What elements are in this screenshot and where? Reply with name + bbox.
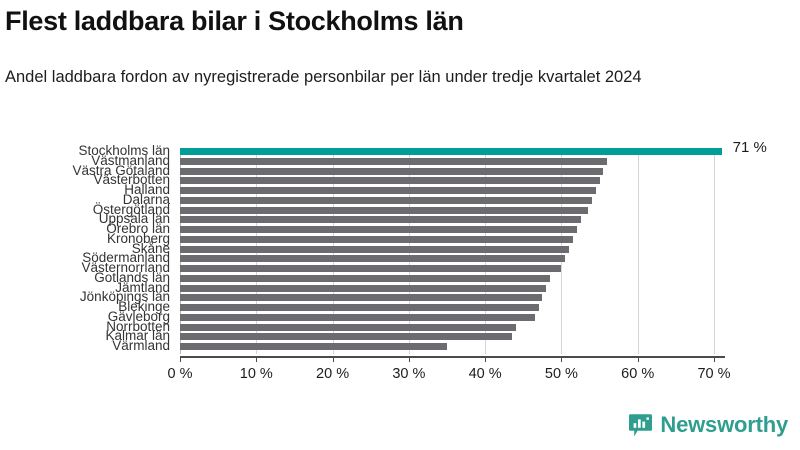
x-axis-tick-label: 30 % [392, 366, 425, 382]
logo-text: Newsworthy [660, 412, 788, 438]
bar [180, 246, 569, 253]
bar [180, 197, 592, 204]
bar-row [180, 324, 714, 331]
bar [180, 294, 542, 301]
bar-row [180, 275, 714, 282]
y-axis-labels: Stockholms länVästmanlandVästra Götaland… [0, 0, 176, 450]
bar-chart-bubble-icon [628, 413, 653, 438]
bar [180, 333, 512, 340]
x-axis-tick-label: 40 % [469, 366, 502, 382]
bar-row [180, 285, 714, 292]
x-axis-tick-label: 50 % [545, 366, 578, 382]
bar-row [180, 236, 714, 243]
bar [180, 304, 539, 311]
bar-row [180, 265, 714, 272]
bar [180, 265, 561, 272]
bar [180, 236, 573, 243]
chart-card: Flest laddbara bilar i Stockholms län An… [0, 0, 800, 450]
bar-row [180, 304, 714, 311]
bar-row [180, 187, 714, 194]
bar-row [180, 294, 714, 301]
x-axis-tick-label: 60 % [621, 366, 654, 382]
bar-row [180, 148, 714, 155]
x-axis-tick [333, 356, 334, 362]
bar-row [180, 226, 714, 233]
x-axis-tick-label: 20 % [316, 366, 349, 382]
bar-row [180, 177, 714, 184]
bar-row [180, 197, 714, 204]
x-axis-tick-label: 70 % [697, 366, 730, 382]
plot-area [180, 148, 714, 353]
y-axis-label: Värmland [112, 339, 170, 353]
bar-row [180, 168, 714, 175]
bar [180, 226, 577, 233]
newsworthy-logo: Newsworthy [628, 412, 788, 438]
x-axis-tick [714, 356, 715, 362]
bar-row [180, 207, 714, 214]
bar-row [180, 333, 714, 340]
bar-value-label: 71 % [733, 144, 767, 151]
x-axis-tick [485, 356, 486, 362]
bar-row [180, 246, 714, 253]
bar [180, 275, 550, 282]
bar [180, 148, 722, 155]
x-axis-line [180, 356, 725, 358]
bar [180, 314, 535, 321]
bar [180, 216, 581, 223]
x-axis-tick-label: 0 % [168, 366, 193, 382]
bar [180, 207, 588, 214]
bar-row [180, 255, 714, 262]
x-axis-tick [409, 356, 410, 362]
x-axis-tick [256, 356, 257, 362]
bar [180, 343, 447, 350]
gridline [714, 148, 715, 354]
bar [180, 255, 565, 262]
x-axis-tick [180, 356, 181, 362]
bar-row [180, 158, 714, 165]
bar-row [180, 314, 714, 321]
x-axis-tick [638, 356, 639, 362]
bar [180, 187, 596, 194]
bar [180, 324, 516, 331]
bar [180, 177, 600, 184]
x-axis-tick [561, 356, 562, 362]
bar-row [180, 216, 714, 223]
x-axis-tick-label: 10 % [240, 366, 273, 382]
bar [180, 158, 607, 165]
bar [180, 285, 546, 292]
bar [180, 168, 603, 175]
bar-row [180, 343, 714, 350]
